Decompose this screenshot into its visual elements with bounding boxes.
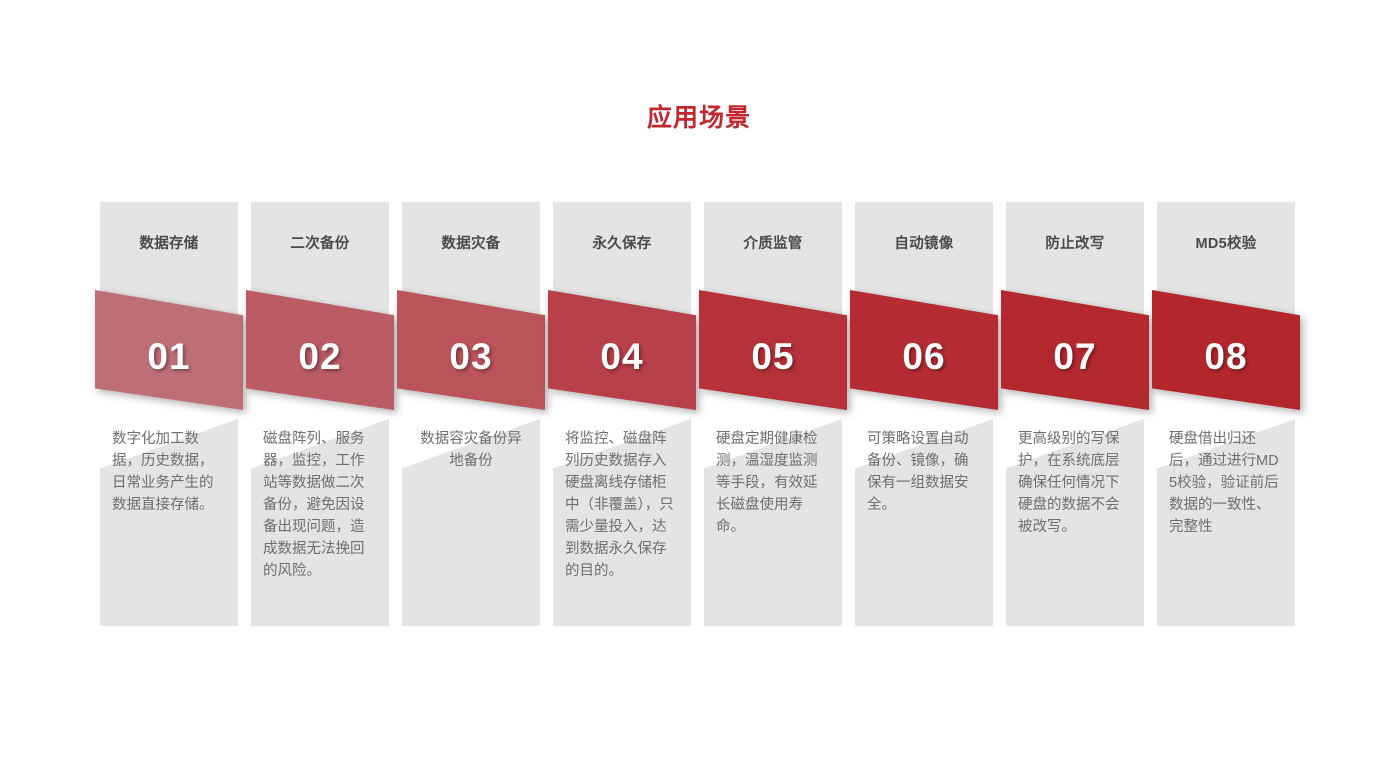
card-number: 04 xyxy=(548,290,696,410)
scenario-card[interactable]: 二次备份02磁盘阵列、服务器，监控，工作站等数据做二次备份，避免因设备出现问题，… xyxy=(251,202,389,626)
card-title: 数据灾备 xyxy=(402,232,540,253)
card-title: 介质监管 xyxy=(704,232,842,253)
scenario-card[interactable]: 永久保存04将监控、磁盘阵列历史数据存入硬盘离线存储柜中（非覆盖），只需少量投入… xyxy=(553,202,691,626)
scenario-card[interactable]: 自动镜像06可策略设置自动备份、镜像，确保有一组数据安全。 xyxy=(855,202,993,626)
card-number: 08 xyxy=(1152,290,1300,410)
card-number: 01 xyxy=(95,290,243,410)
scenario-card[interactable]: 介质监管05硬盘定期健康检测，温湿度监测等手段，有效延长磁盘使用寿命。 xyxy=(704,202,842,626)
card-body-text: 数据容灾备份异地备份 xyxy=(414,428,528,472)
card-number: 02 xyxy=(246,290,394,410)
card-number: 06 xyxy=(850,290,998,410)
scenario-card[interactable]: 数据灾备03数据容灾备份异地备份 xyxy=(402,202,540,626)
card-number: 05 xyxy=(699,290,847,410)
page-title: 应用场景 xyxy=(0,98,1398,134)
scenario-card[interactable]: 数据存储01数字化加工数据，历史数据，日常业务产生的数据直接存储。 xyxy=(100,202,238,626)
card-number-banner: 08 xyxy=(1152,290,1300,410)
card-body-text: 更高级别的写保护，在系统底层确保任何情况下硬盘的数据不会被改写。 xyxy=(1018,428,1132,538)
card-body-panel xyxy=(402,378,540,626)
card-title: 自动镜像 xyxy=(855,232,993,253)
scenario-card[interactable]: 防止改写07更高级别的写保护，在系统底层确保任何情况下硬盘的数据不会被改写。 xyxy=(1006,202,1144,626)
card-body-text: 磁盘阵列、服务器，监控，工作站等数据做二次备份，避免因设备出现问题，造成数据无法… xyxy=(263,428,377,582)
card-number-banner: 06 xyxy=(850,290,998,410)
card-number-banner: 07 xyxy=(1001,290,1149,410)
card-body-text: 硬盘借出归还后，通过进行MD5校验，验证前后数据的一致性、完整性 xyxy=(1169,428,1283,538)
card-number-banner: 05 xyxy=(699,290,847,410)
card-number-banner: 02 xyxy=(246,290,394,410)
card-title: 防止改写 xyxy=(1006,232,1144,253)
card-number: 03 xyxy=(397,290,545,410)
card-body-text: 将监控、磁盘阵列历史数据存入硬盘离线存储柜中（非覆盖），只需少量投入，达到数据永… xyxy=(565,428,679,582)
card-number-banner: 04 xyxy=(548,290,696,410)
card-title: MD5校验 xyxy=(1157,232,1295,253)
card-number: 07 xyxy=(1001,290,1149,410)
card-number-banner: 03 xyxy=(397,290,545,410)
card-body-text: 可策略设置自动备份、镜像，确保有一组数据安全。 xyxy=(867,428,981,516)
scenario-card[interactable]: MD5校验08硬盘借出归还后，通过进行MD5校验，验证前后数据的一致性、完整性 xyxy=(1157,202,1295,626)
card-body-text: 数字化加工数据，历史数据，日常业务产生的数据直接存储。 xyxy=(112,428,226,516)
card-title: 数据存储 xyxy=(100,232,238,253)
scenario-card-list: 数据存储01数字化加工数据，历史数据，日常业务产生的数据直接存储。二次备份02磁… xyxy=(100,202,1298,626)
card-body-text: 硬盘定期健康检测，温湿度监测等手段，有效延长磁盘使用寿命。 xyxy=(716,428,830,538)
card-title: 二次备份 xyxy=(251,232,389,253)
card-number-banner: 01 xyxy=(95,290,243,410)
card-title: 永久保存 xyxy=(553,232,691,253)
